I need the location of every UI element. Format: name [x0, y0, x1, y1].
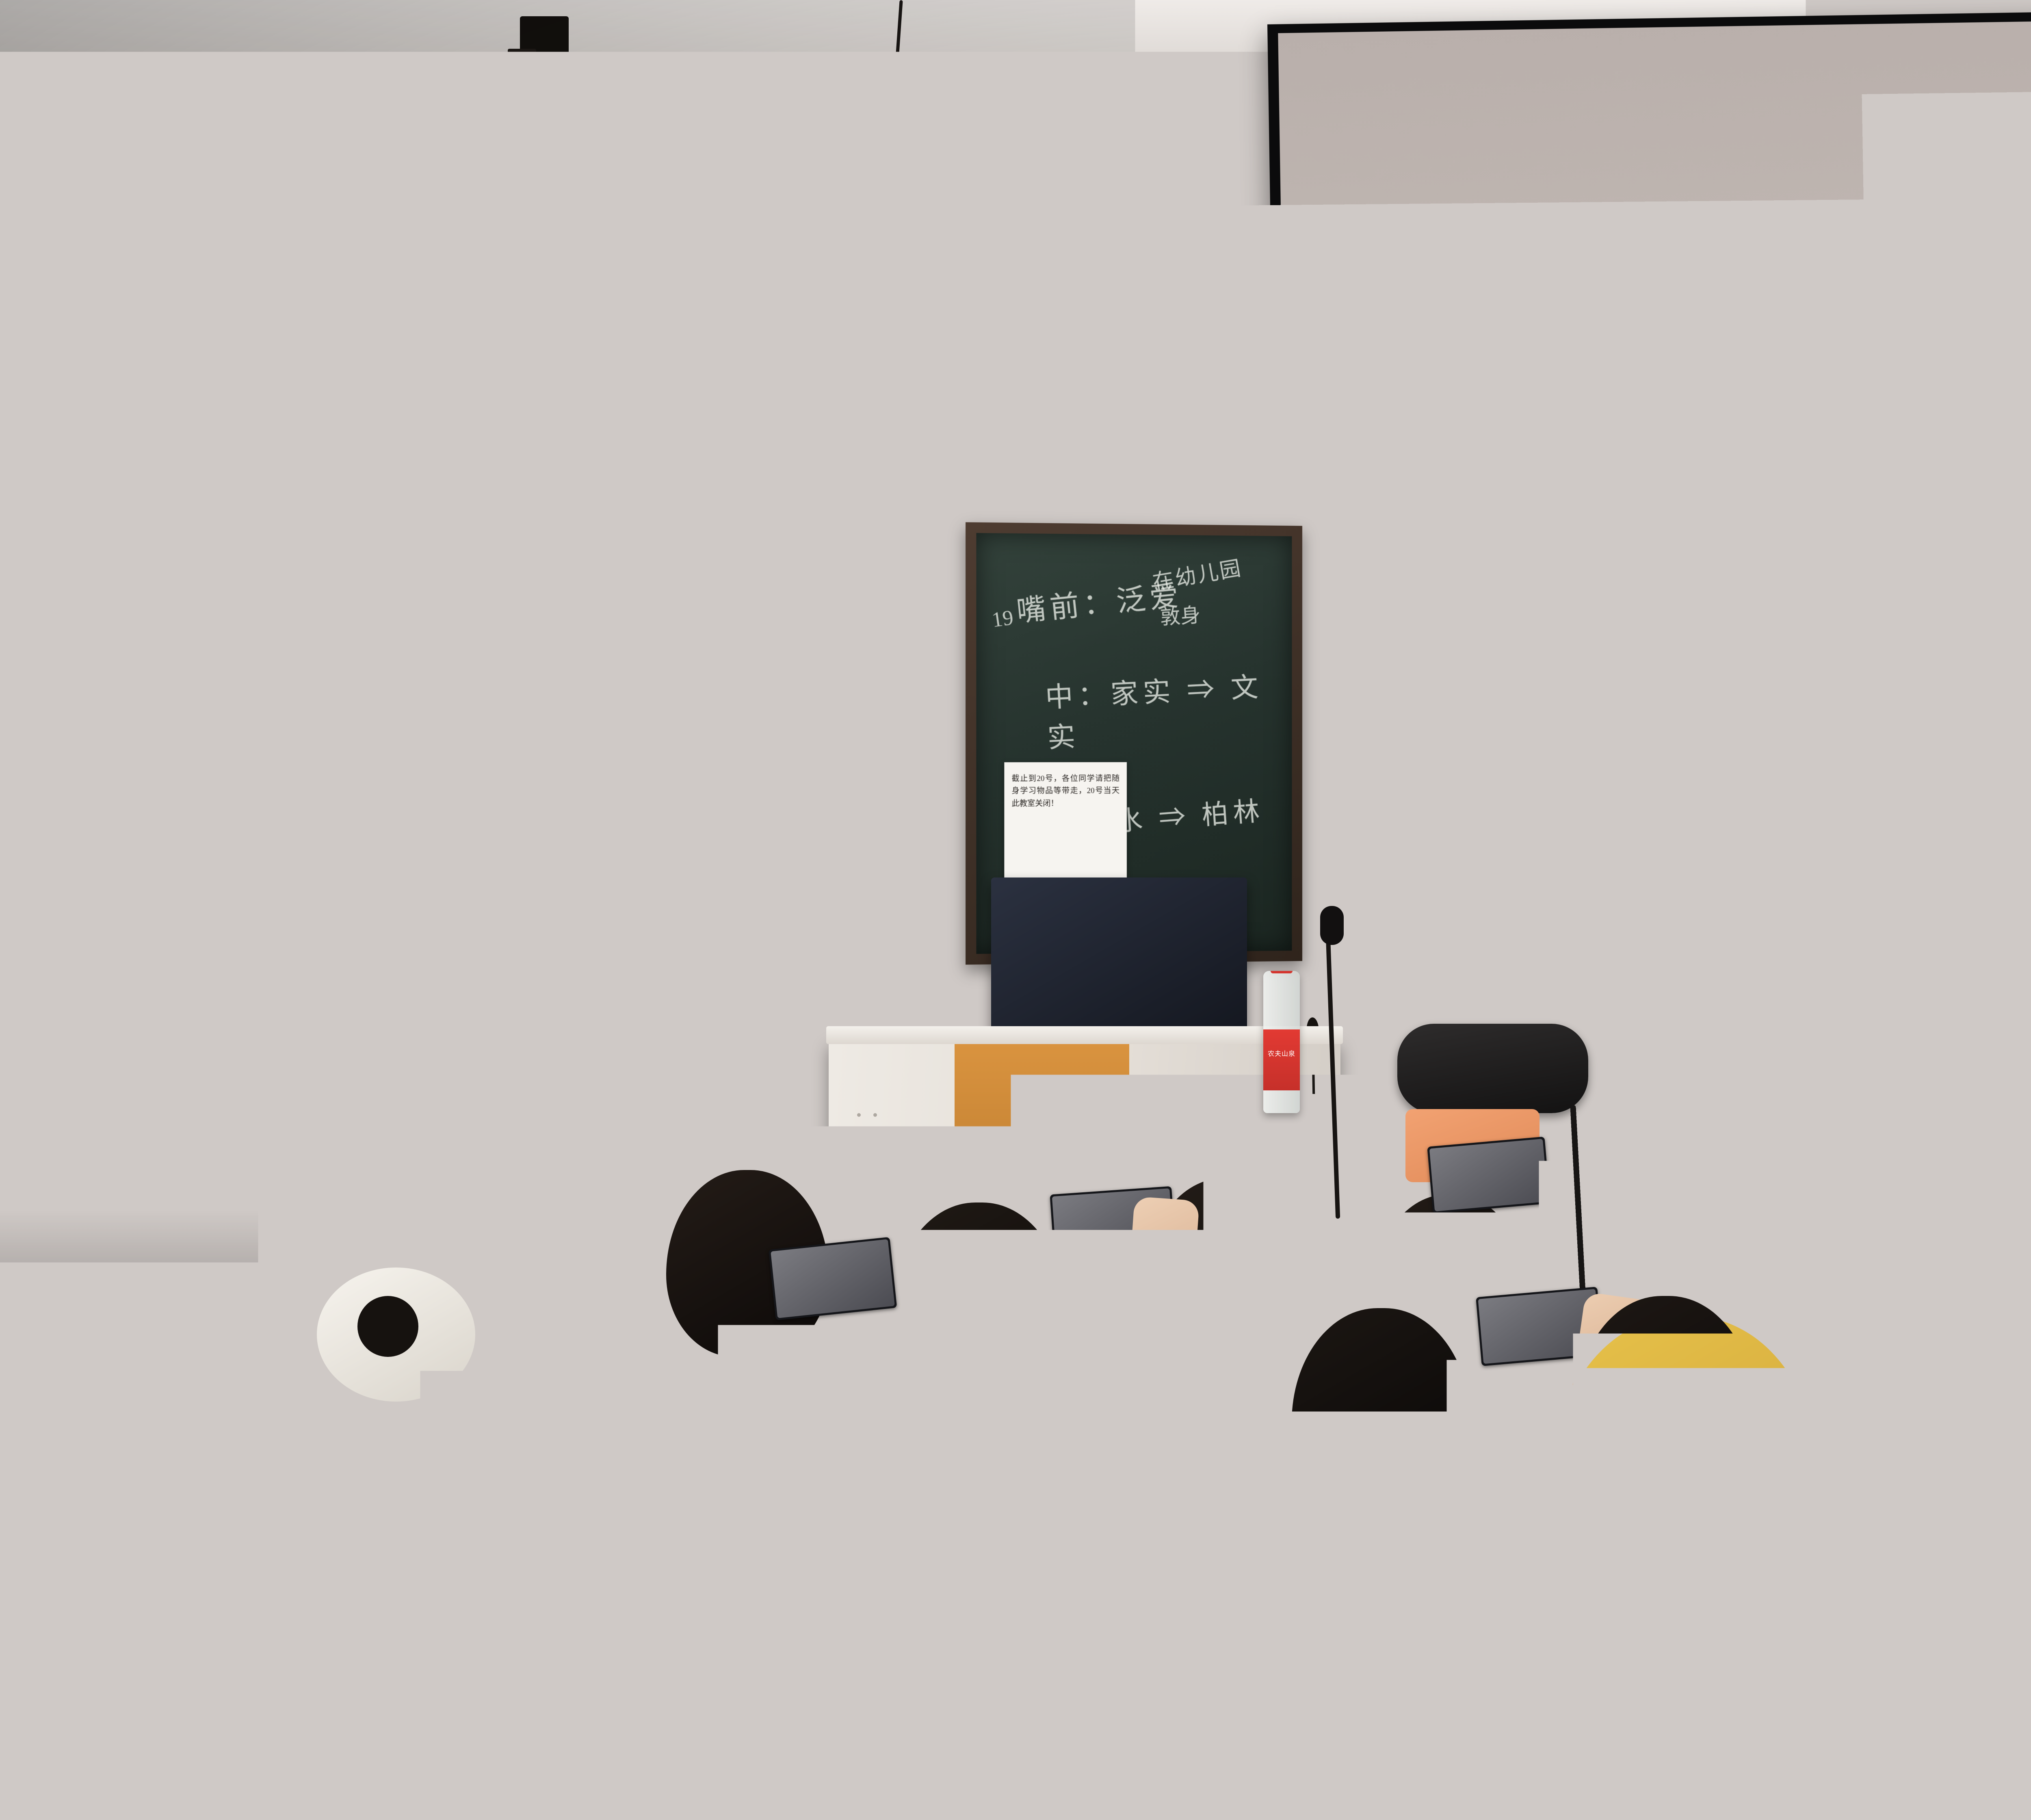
slide-row-3-label: 寄出档案时间： — [1397, 570, 1607, 606]
slide-row-4-value: 8月中旬后 — [1729, 630, 1870, 665]
wall-notice-line-1: 1、垃圾不要乱丢，请自觉带出自习室，投放至垃圾桶！ — [768, 618, 860, 635]
slide-row-1-label: 收集档案派遣信息时间： — [1394, 438, 1727, 478]
folding-chair-back[interactable] — [1397, 1024, 1588, 1113]
classroom-photo-scene: SOAIY — [0, 0, 2031, 1820]
wall-power-outlet[interactable] — [1072, 102, 1109, 147]
slide-row-2-value: 6月中旬至7月中旬 — [1606, 500, 1854, 538]
door-lock-bolt-2[interactable] — [644, 905, 658, 940]
door-lock-bolt[interactable] — [644, 808, 658, 843]
slide-row-2-label: 整理档案时间： — [1395, 505, 1606, 542]
slide-row-1: 收集档案派遣信息时间：4月中旬至5月中旬 — [1345, 406, 2031, 481]
projector-screen: 北海艺术设计学院 BEIHAI UNIVERSITY OF ART AND DE… — [1267, 1, 2031, 1053]
speaker-brand-label: SOAIY — [475, 115, 529, 134]
chalk-note-5: 19 — [990, 606, 1015, 633]
screen-black-border: 北海艺术设计学院 BEIHAI UNIVERSITY OF ART AND DE… — [1267, 1, 2031, 1053]
study-room-notice: 自习室注意事项 1、垃圾不要乱丢，请自觉带出自习室，投放至垃圾桶！ 2、离开教室… — [763, 597, 866, 691]
gooseneck-mic-base — [1306, 1215, 1366, 1233]
wall-notice-line-2: 2、离开教室时，随身携带贵重物品，如电脑，以免丢失 — [769, 639, 860, 655]
logo-wordmark: 北海艺术设计学院 BEIHAI UNIVERSITY OF ART AND DE… — [1408, 301, 1600, 349]
slide-row-4-label: 查询档案邮寄情况时间： — [1397, 632, 1730, 670]
pipe-collar-2 — [48, 280, 85, 298]
door-knob[interactable] — [643, 994, 668, 1020]
fur-hat-ear — [357, 1296, 418, 1357]
right-wall-shadow — [1990, 0, 2031, 1527]
pipe-collar-3 — [48, 349, 85, 367]
plastic-bag — [865, 991, 971, 1052]
water-bottle: 农夫山泉 — [1263, 971, 1300, 1113]
wall-notice-title: 自习室注意事项 — [768, 602, 860, 614]
paper-roll — [1093, 983, 1126, 1048]
bottle-cap — [1271, 971, 1293, 973]
slide-content: 北海艺术设计学院 BEIHAI UNIVERSITY OF ART AND DE… — [1282, 250, 2031, 793]
speaker-grille — [418, 68, 612, 159]
cardboard-box-secondary — [0, 1118, 137, 1259]
logo-chinese-name: 北海艺术设计学院 — [1407, 300, 1600, 338]
chalk-note-2: 在幼儿园 — [1150, 551, 1244, 596]
slide-row-3-value: 7月中旬至8月初 — [1607, 565, 1824, 602]
slide-row-1-value: 4月中旬至5月中旬 — [1726, 432, 1977, 471]
door-hinge-upper — [599, 1206, 607, 1283]
bottle-brand: 农夫山泉 — [1263, 1048, 1300, 1058]
audience-arm — [185, 1196, 266, 1339]
branch-pipe — [73, 211, 317, 230]
screen-unlit-top-band — [1278, 11, 2031, 318]
presenter-lanyard — [382, 906, 394, 1060]
blackboard-posted-notice: 截止到20号，各位同学请把随身学习物品等带走，20号当天此教室关闭！ — [1004, 762, 1127, 885]
beanie-band — [1674, 1479, 1852, 1515]
chalk-note-3: 敦身 — [1159, 599, 1201, 630]
tissue-pack — [995, 1020, 1083, 1048]
posted-paper — [12, 796, 65, 873]
bottle-label: 农夫山泉 — [1263, 1029, 1300, 1090]
speaker-side-panel — [613, 67, 636, 160]
screen-unlit-bottom-band — [1290, 763, 2031, 1043]
gooseneck-mic-head — [1320, 906, 1344, 945]
screen-surface: 北海艺术设计学院 BEIHAI UNIVERSITY OF ART AND DE… — [1278, 11, 2031, 1043]
slide-row-2: 整理档案时间：6月中旬至7月中旬 — [1346, 473, 2031, 545]
pipe-collar-1 — [48, 179, 85, 197]
slide-row-4: 查询档案邮寄情况时间：8月中旬后 — [1348, 607, 2031, 673]
audience-bun — [357, 1162, 479, 1267]
blackboard-notice-text: 截止到20号，各位同学请把随身学习物品等带走，20号当天此教室关闭！ — [1012, 773, 1119, 810]
wall-speaker: SOAIY — [414, 65, 638, 162]
rose-swirl-logo-icon — [1360, 309, 1398, 348]
audience-phone[interactable] — [1427, 1137, 1550, 1214]
chalk-note-4: 水 ⇒ 柏林 — [1114, 789, 1265, 839]
chalk-note-1: 中：家实 ⇒ 文实 — [1044, 663, 1292, 756]
slide-row-3: 寄出档案时间：7月中旬至8月初 — [1347, 540, 2031, 609]
